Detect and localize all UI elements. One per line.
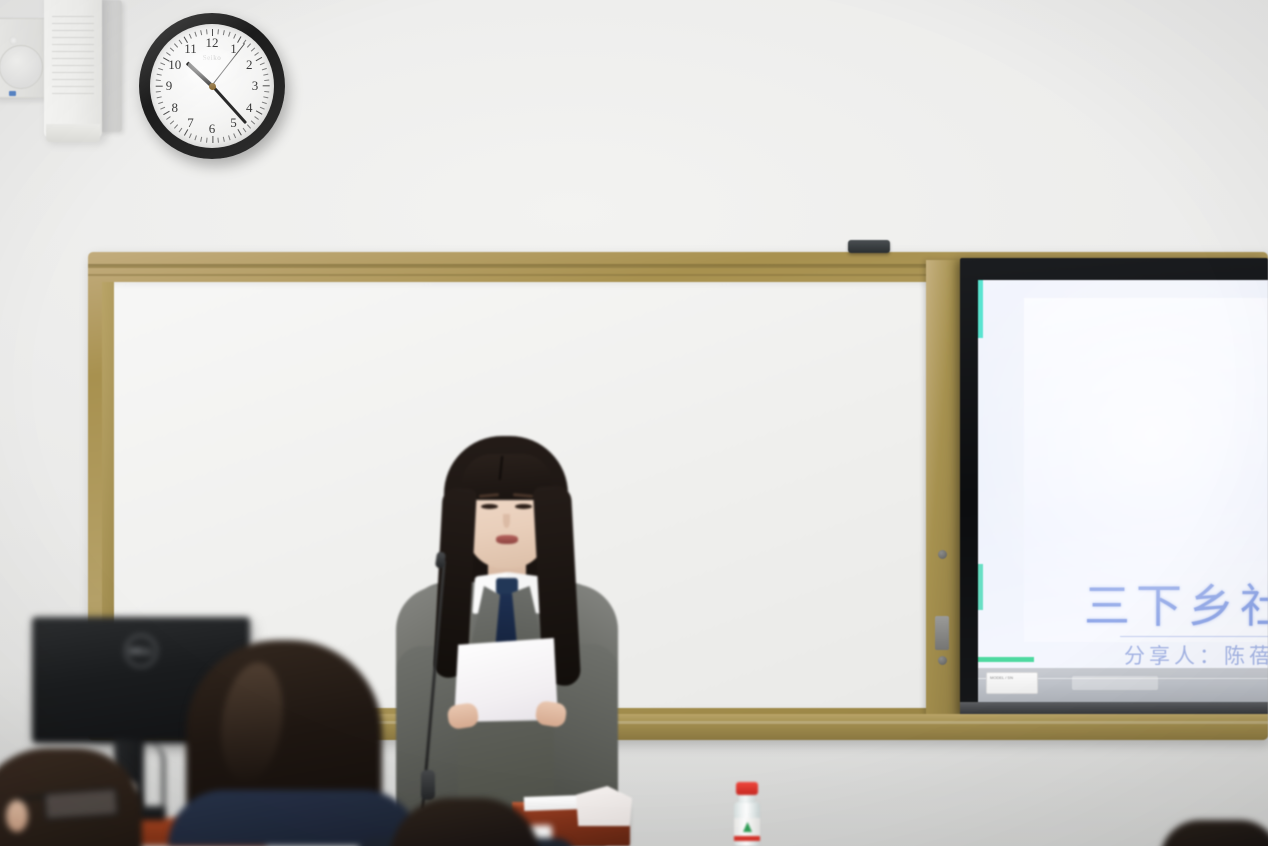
image-vignette [0,0,1268,846]
classroom-photo: 121234567891011 Seiko [0,0,1268,846]
